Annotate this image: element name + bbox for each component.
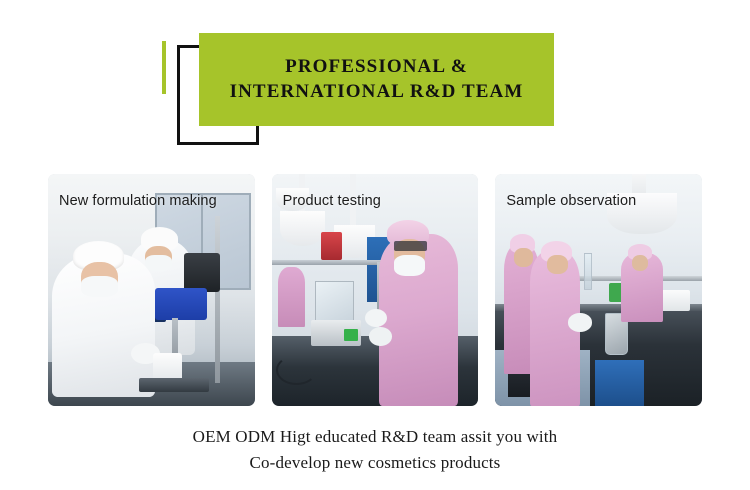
panel-2-label: Product testing: [283, 192, 381, 211]
photo-panel-row: New formulation making: [48, 174, 702, 406]
green-title-block: PROFESSIONAL & INTERNATIONAL R&D TEAM: [199, 33, 554, 126]
promo-banner-page: PROFESSIONAL & INTERNATIONAL R&D TEAM: [0, 0, 750, 490]
caption-line-2: Co-develop new cosmetics products: [0, 450, 750, 476]
footer-caption: OEM ODM Higt educated R&D team assit you…: [0, 424, 750, 477]
panel-3-label: Sample observation: [506, 192, 636, 211]
banner-title-line-2: INTERNATIONAL R&D TEAM: [230, 80, 524, 104]
banner-title-line-1: PROFESSIONAL &: [285, 55, 468, 79]
panel-1-label: New formulation making: [59, 192, 217, 211]
header-banner: PROFESSIONAL & INTERNATIONAL R&D TEAM: [0, 0, 750, 160]
panel-product-testing[interactable]: Product testing: [272, 174, 479, 406]
caption-line-1: OEM ODM Higt educated R&D team assit you…: [0, 424, 750, 450]
panel-new-formulation-making[interactable]: New formulation making: [48, 174, 255, 406]
panel-sample-observation[interactable]: Sample observation: [495, 174, 702, 406]
green-accent-bar-decoration: [162, 41, 166, 94]
